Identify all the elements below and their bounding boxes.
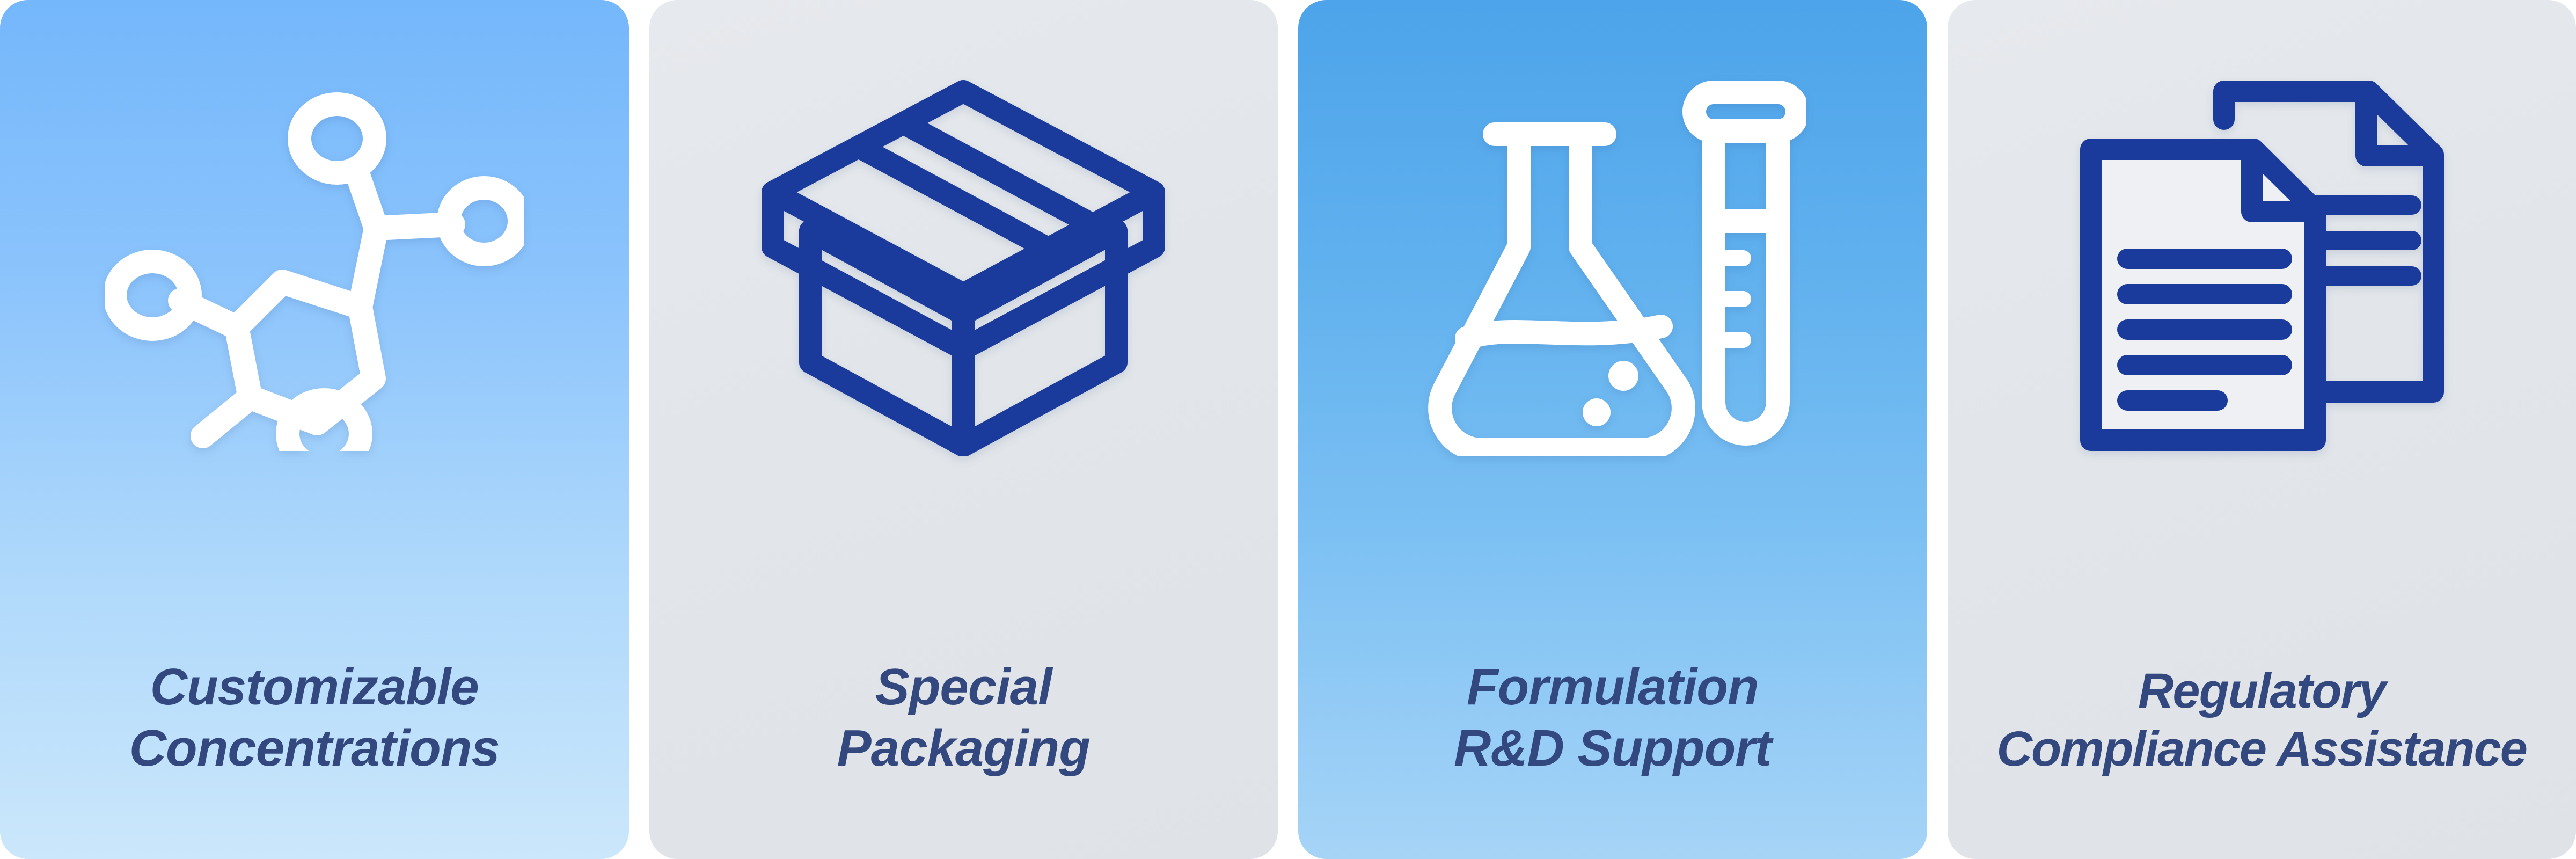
card-regulatory-compliance-assistance[interactable]: Regulatory Compliance Assistance (1948, 0, 2576, 859)
card-label-line-2: Concentrations (0, 718, 629, 778)
card-label: Special Packaging (649, 657, 1278, 778)
molecule-icon (0, 59, 629, 467)
package-box-icon (649, 59, 1278, 467)
card-label-line-1: Customizable (0, 657, 629, 717)
card-label: Formulation R&D Support (1298, 657, 1927, 778)
card-formulation-rd-support[interactable]: Formulation R&D Support (1298, 0, 1927, 859)
card-special-packaging[interactable]: Special Packaging (649, 0, 1278, 859)
card-label-line-1: Regulatory (1948, 662, 2576, 720)
card-label: Regulatory Compliance Assistance (1948, 662, 2576, 778)
card-customizable-concentrations[interactable]: Customizable Concentrations (0, 0, 629, 859)
feature-cards-row: Customizable Concentrations (0, 0, 2576, 859)
flask-bubbles (1583, 361, 1638, 426)
card-label-line-2: Compliance Assistance (1948, 720, 2576, 778)
card-label-line-1: Special (649, 657, 1278, 717)
flask-test-tube-icon (1298, 59, 1927, 467)
test-tube-graduations (1718, 250, 1751, 348)
card-label-line-2: R&D Support (1298, 718, 1927, 778)
atom-node-right (449, 188, 519, 254)
flask-shape (1440, 134, 1684, 450)
atom-node-left (115, 261, 190, 329)
card-label-line-1: Formulation (1298, 657, 1927, 717)
documents-icon (1948, 59, 2576, 467)
card-label-line-2: Packaging (649, 718, 1278, 778)
card-label: Customizable Concentrations (0, 657, 629, 778)
atom-node-top (299, 104, 375, 173)
